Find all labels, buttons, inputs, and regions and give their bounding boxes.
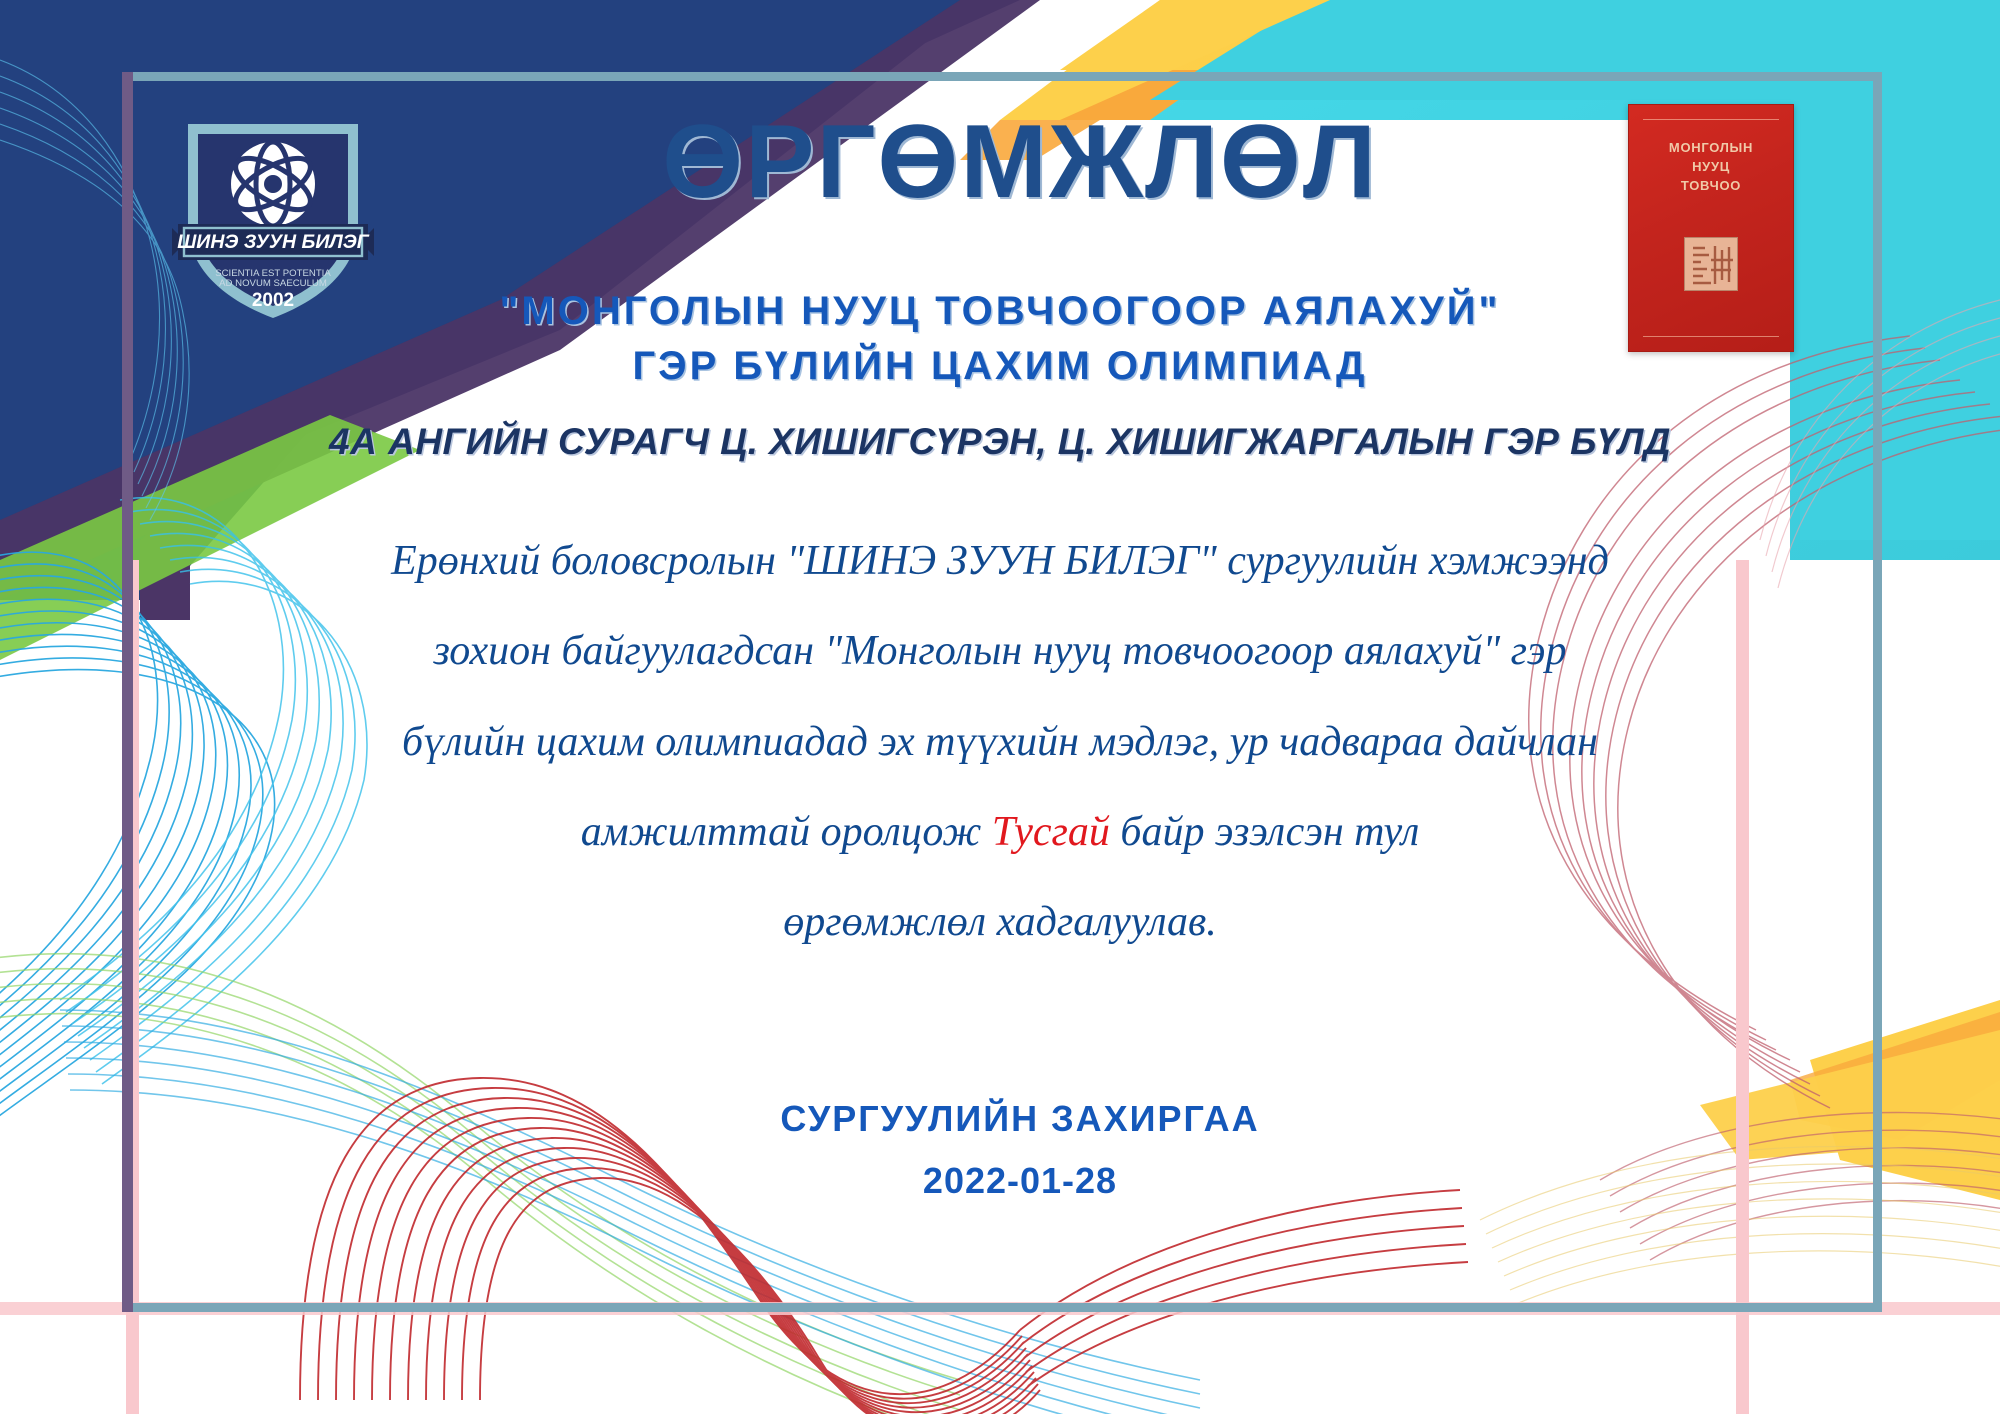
body-line-4: амжилттай оролцож Тусгай байр эзэлсэн ту… bbox=[170, 787, 1830, 877]
issue-date: 2022-01-28 bbox=[520, 1160, 1520, 1202]
certificate-document: ШИНЭ ЗУУН БИЛЭГ SCIENTIA EST POTENTIA AD… bbox=[0, 0, 2000, 1414]
certificate-content: ШИНЭ ЗУУН БИЛЭГ SCIENTIA EST POTENTIA AD… bbox=[140, 86, 1864, 1298]
body-line-4-after: байр эзэлсэн тул bbox=[1120, 809, 1419, 855]
certificate-body: Ерөнхий боловсролын "ШИНЭ ЗУУН БИЛЭГ" су… bbox=[170, 516, 1830, 967]
award-rank: Тусгай bbox=[992, 809, 1110, 855]
seal-icon bbox=[1684, 237, 1738, 291]
subtitle-line-2: ГЭР БҮЛИЙН ЦАХИМ ОЛИМПИАД bbox=[200, 339, 1800, 394]
page-title: ӨРГӨМЖЛӨЛ bbox=[440, 108, 1600, 217]
body-line-5: өргөмжлөл хадгалуулав. bbox=[170, 877, 1830, 967]
signing-organization: СУРГУУЛИЙН ЗАХИРГАА bbox=[520, 1098, 1520, 1140]
book-title: МОНГОЛЫН НУУЦ ТОВЧОО bbox=[1629, 139, 1793, 196]
book-title-line1: МОНГОЛЫН bbox=[1629, 139, 1793, 158]
logo-banner: ШИНЭ ЗУУН БИЛЭГ bbox=[172, 224, 374, 260]
subtitle-line-1: "МОНГОЛЫН НУУЦ ТОВЧООГООР АЯЛАХУЙ" bbox=[200, 284, 1800, 339]
body-line-4-before: амжилттай оролцож bbox=[581, 809, 982, 855]
book-title-line2: НУУЦ bbox=[1629, 158, 1793, 177]
certificate-border-accent bbox=[122, 72, 133, 1312]
book-rule-top bbox=[1643, 119, 1779, 120]
signature-block: СУРГУУЛИЙН ЗАХИРГАА 2022-01-28 bbox=[520, 1098, 1520, 1202]
event-subtitle: "МОНГОЛЫН НУУЦ ТОВЧООГООР АЯЛАХУЙ" ГЭР Б… bbox=[200, 284, 1800, 394]
recipient-name: 4А АНГИЙН СУРАГЧ Ц. ХИШИГСҮРЭН, Ц. ХИШИГ… bbox=[180, 421, 1820, 463]
logo-banner-text: ШИНЭ ЗУУН БИЛЭГ bbox=[177, 231, 370, 253]
body-line-2: зохион байгуулагдсан "Монголын нууц товч… bbox=[170, 606, 1830, 696]
book-title-line3: ТОВЧОО bbox=[1629, 177, 1793, 196]
body-line-3: бүлийн цахим олимпиадад эх түүхийн мэдлэ… bbox=[170, 697, 1830, 787]
body-line-1: Ерөнхий боловсролын "ШИНЭ ЗУУН БИЛЭГ" су… bbox=[170, 516, 1830, 606]
